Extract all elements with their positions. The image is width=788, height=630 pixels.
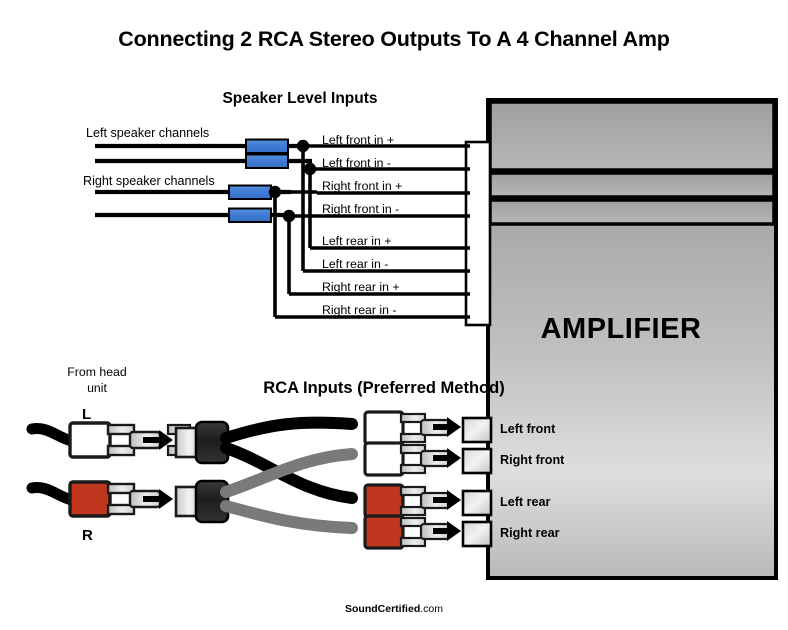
speaker-level-inputs-heading: Speaker Level Inputs [0, 90, 600, 108]
head-unit-cable-left [32, 429, 72, 441]
diagram-canvas: Connecting 2 RCA Stereo Outputs To A 4 C… [0, 0, 788, 630]
wire-label-right-rear-pos: Right rear in + [322, 280, 400, 294]
amp-rca-jack-left-rear[interactable] [463, 491, 491, 515]
right-speaker-connector-blocks [229, 186, 271, 223]
footer-tld: .com [420, 603, 443, 615]
wire-label-right-rear-neg: Right rear in - [322, 303, 397, 317]
amp-jack-label-left-front: Left front [500, 422, 555, 436]
from-head-unit-label: From head unit [66, 365, 128, 396]
rca-splitter-right [176, 481, 228, 522]
amp-jack-label-left-rear: Left rear [500, 495, 550, 509]
amp-jack-label-right-rear: Right rear [500, 526, 559, 540]
wire-label-left-front-pos: Left front in + [322, 133, 394, 147]
left-speaker-channels-label: Left speaker channels [86, 126, 209, 140]
amp-rca-jack-right-front[interactable] [463, 449, 491, 473]
right-speaker-channels-label: Right speaker channels [83, 174, 215, 188]
amp-rca-jack-left-front[interactable] [463, 418, 491, 442]
rca-splitter-left [176, 422, 228, 463]
amp-rca-jack-right-rear[interactable] [463, 522, 491, 546]
left-channel-label: L [82, 406, 91, 423]
head-unit-cable-right [32, 488, 72, 500]
footer-watermark: SoundCertified.com [0, 603, 788, 615]
amplifier-label: AMPLIFIER [466, 313, 776, 346]
wire-label-left-rear-neg: Left rear in - [322, 257, 388, 271]
footer-brand: SoundCertified [345, 603, 420, 615]
right-channel-label: R [82, 527, 93, 544]
left-speaker-connector-blocks [246, 140, 288, 169]
amp-jack-label-right-front: Right front [500, 453, 564, 467]
wire-label-left-front-neg: Left front in - [322, 156, 391, 170]
wire-label-left-rear-pos: Left rear in + [322, 234, 391, 248]
wire-label-right-front-pos: Right front in + [322, 179, 402, 193]
wire-label-right-front-neg: Right front in - [322, 202, 399, 216]
page-title: Connecting 2 RCA Stereo Outputs To A 4 C… [0, 27, 788, 52]
